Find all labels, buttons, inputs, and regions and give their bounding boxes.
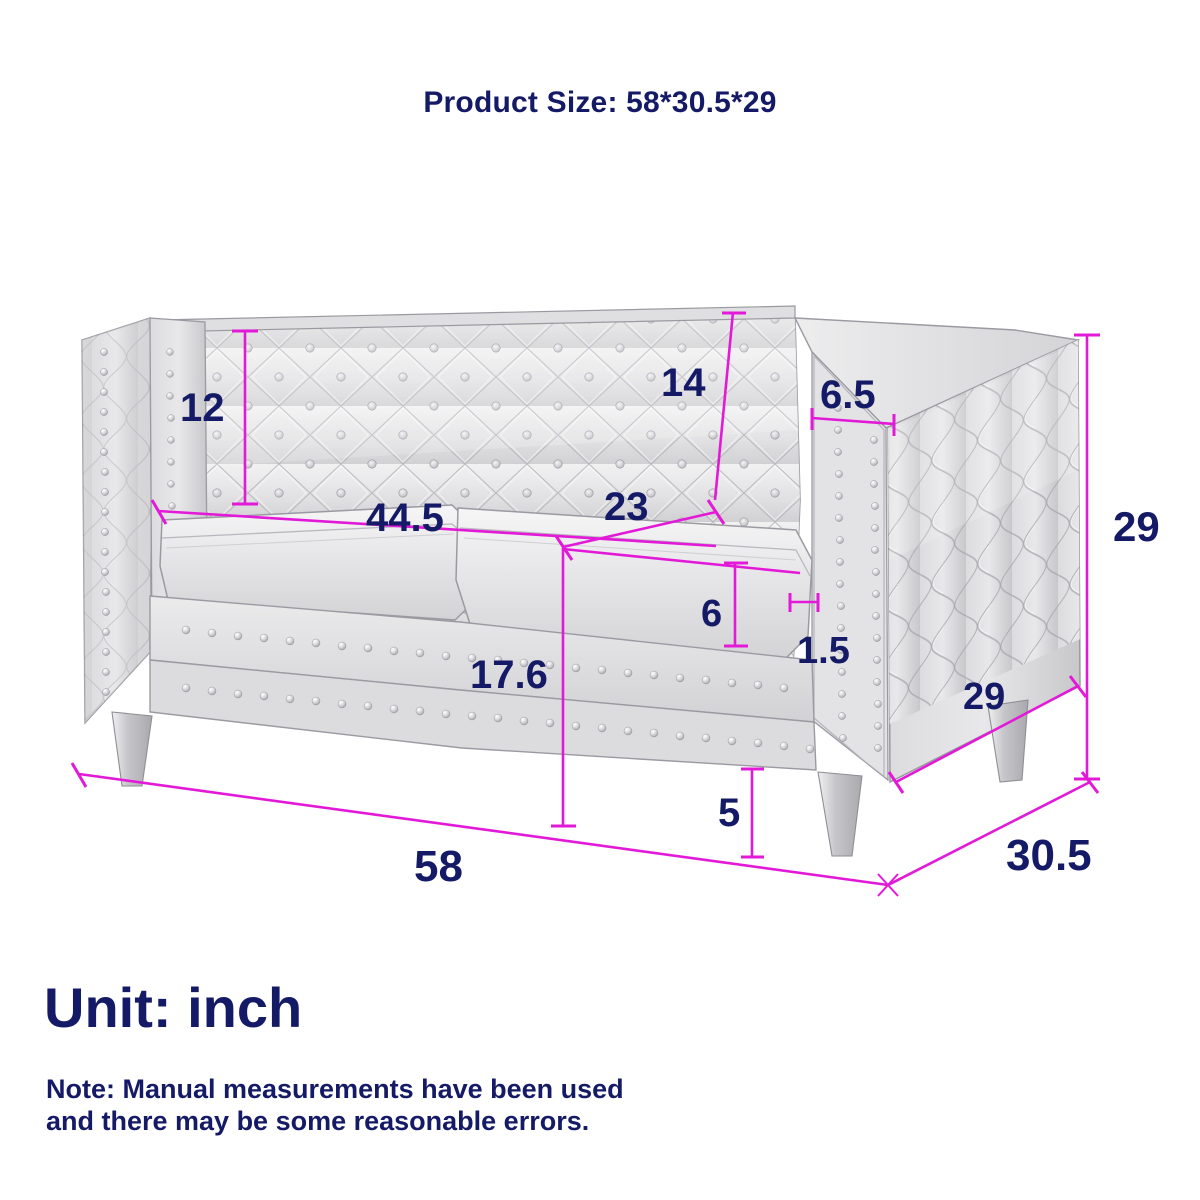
dimension-label-leg-height: 5: [718, 793, 740, 833]
dimension-label-seat-height: 17.6: [470, 655, 548, 695]
dimension-label-side-depth: 29: [963, 678, 1005, 716]
unit-label: Unit: inch: [44, 980, 302, 1036]
dimension-label-back-height-inner: 14: [661, 363, 706, 403]
leg-front-right: [818, 772, 862, 856]
dimension-label-overall-height: 29: [1113, 506, 1160, 548]
dimension-label-back-cushion-height: 12: [180, 388, 225, 428]
measurement-note-line-2: and there may be some reasonable errors.: [46, 1106, 1046, 1138]
dimension-label-seat-width: 44.5: [366, 498, 444, 538]
dim-line-58: [72, 763, 888, 885]
sofa-illustration: [80, 0, 1100, 856]
dimension-label-overall-depth: 30.5: [1006, 834, 1092, 878]
measurement-note: Note: Manual measurements have been used…: [46, 1074, 1046, 1138]
dimension-label-seat-depth: 23: [604, 487, 649, 527]
dimension-label-arm-panel-thickness: 1.5: [797, 632, 850, 670]
sofa-left-arm-outside: [80, 310, 160, 730]
dim-line-5: [741, 768, 764, 858]
dimension-label-arm-width: 6.5: [820, 375, 876, 415]
dimension-diagram-page: Product Size: 58*30.5*29: [0, 0, 1200, 1200]
dimension-label-overall-width: 58: [414, 845, 463, 889]
measurement-note-line-1: Note: Manual measurements have been used: [46, 1074, 1046, 1106]
dimension-label-cushion-thickness: 6: [701, 595, 722, 633]
leg-front-left: [112, 712, 152, 786]
